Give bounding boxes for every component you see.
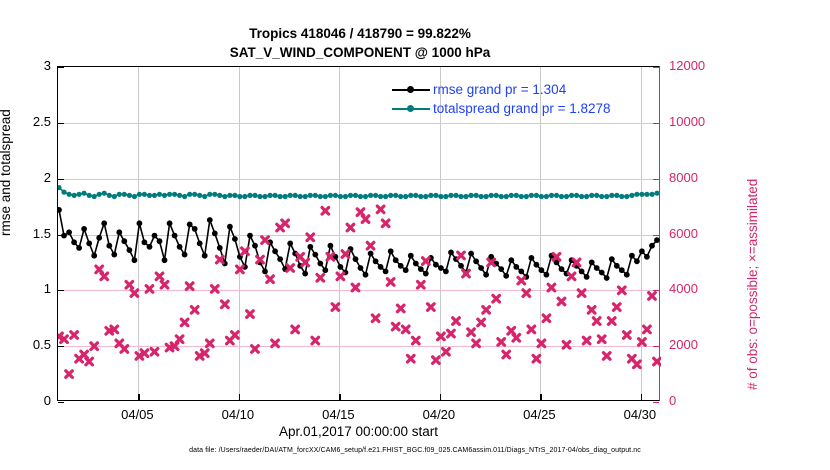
y-axis-left-tick-label: 0 <box>5 393 51 408</box>
y-axis-right-tick <box>653 290 659 291</box>
y-axis-left-tick <box>58 67 64 68</box>
y-axis-right-tick <box>653 346 659 347</box>
chart-title-line-2: SAT_V_WIND_COMPONENT @ 1000 hPa <box>0 43 720 62</box>
chart-title-line-1: Tropics 418046 / 418790 = 99.822% <box>0 24 720 43</box>
legend-label: totalspread grand pr = 1.8278 <box>433 101 611 116</box>
x-axis-tick-label: 04/10 <box>203 407 273 422</box>
x-axis-tick-label: 04/15 <box>303 407 373 422</box>
y-axis-left-tick <box>58 290 64 291</box>
y-axis-left-tick <box>58 346 64 347</box>
legend-item-totalspread: totalspread grand pr = 1.8278 <box>392 99 611 118</box>
legend-dot-icon <box>407 86 414 93</box>
y-axis-right-tick-label: 2000 <box>669 337 729 352</box>
x-axis-tick-label: 04/05 <box>102 407 172 422</box>
x-axis-tick <box>641 394 642 400</box>
y-axis-left-tick-label: 3 <box>5 58 51 73</box>
y-axis-right-tick <box>653 67 659 68</box>
y-axis-right-tick <box>653 402 659 403</box>
legend-label: rmse grand pr = 1.304 <box>433 82 566 97</box>
series-markers-rmse <box>58 207 660 281</box>
y-axis-right-tick-label: 12000 <box>669 58 729 73</box>
y-axis-right-tick-label: 0 <box>669 393 729 408</box>
x-axis-tick-label: 04/30 <box>605 407 675 422</box>
y-axis-right-tick-label: 8000 <box>669 170 729 185</box>
x-axis-tick <box>540 394 541 400</box>
data-file-footnote: data file: /Users/raeder/DAI/ATM_forcXX/… <box>0 447 830 454</box>
y-axis-left-tick <box>58 402 64 403</box>
series-markers-totalspread <box>58 185 660 199</box>
y-axis-right-tick-label: 10000 <box>669 114 729 129</box>
y-axis-left-title: rmse and totalspread <box>0 109 13 236</box>
y-axis-right-tick <box>653 179 659 180</box>
y-axis-right-tick <box>653 235 659 236</box>
legend-item-rmse: rmse grand pr = 1.304 <box>392 80 611 99</box>
y-axis-right-tick-label: 6000 <box>669 226 729 241</box>
y-axis-right-tick-label: 4000 <box>669 281 729 296</box>
x-axis-tick <box>440 394 441 400</box>
y-axis-left-tick-label: 1 <box>5 281 51 296</box>
chart-legend: rmse grand pr = 1.304totalspread grand p… <box>392 80 611 118</box>
legend-marker-icon <box>392 84 430 96</box>
x-axis-tick-label: 04/20 <box>404 407 474 422</box>
y-axis-left-tick-label: 0.5 <box>5 337 51 352</box>
x-axis-tick <box>239 394 240 400</box>
chart-page: Tropics 418046 / 418790 = 99.822% SAT_V_… <box>0 0 830 470</box>
y-axis-left-tick <box>58 179 64 180</box>
series-markers-assimilated <box>58 206 660 377</box>
y-axis-left-tick <box>58 235 64 236</box>
y-axis-left-tick <box>58 123 64 124</box>
legend-marker-icon <box>392 103 430 115</box>
x-axis-tick-label: 04/25 <box>504 407 574 422</box>
y-axis-right-title: # of obs: o=possible; ×=assimilated <box>745 179 760 390</box>
legend-dot-icon <box>407 105 414 112</box>
x-axis-tick <box>339 394 340 400</box>
y-axis-right-tick <box>653 123 659 124</box>
x-axis-tick <box>138 394 139 400</box>
chart-title-block: Tropics 418046 / 418790 = 99.822% SAT_V_… <box>0 24 720 62</box>
x-axis-title: Apr.01,2017 00:00:00 start <box>57 424 660 439</box>
